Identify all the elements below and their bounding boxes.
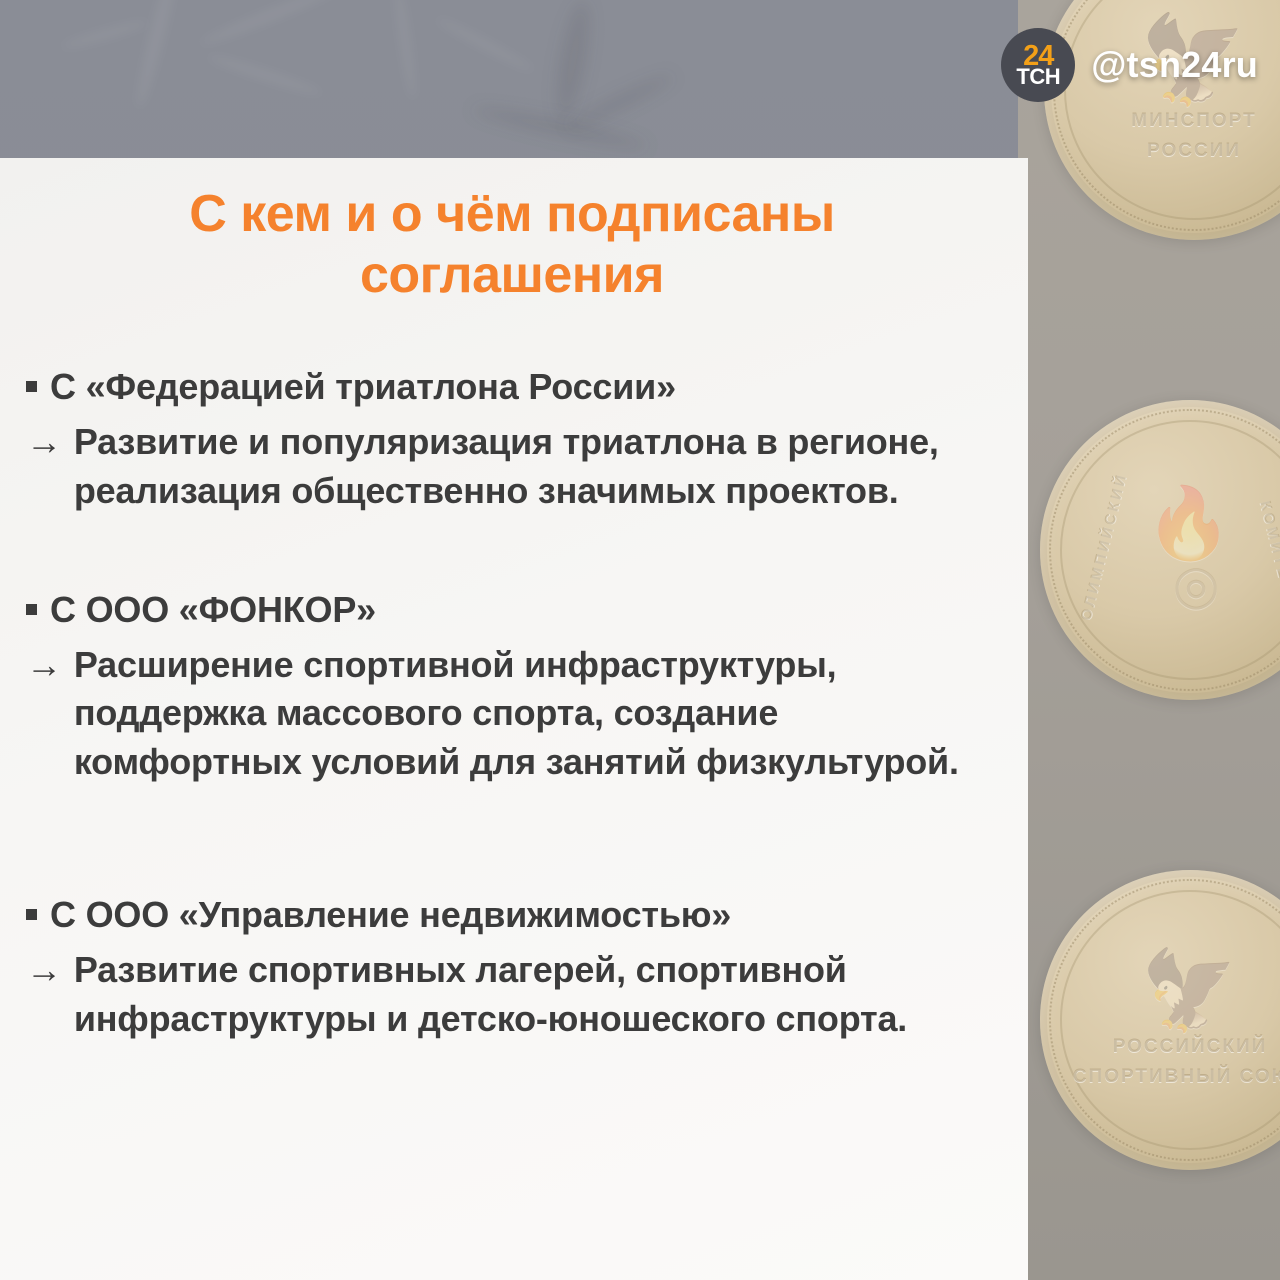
right-arrow-icon: → [26, 641, 62, 690]
right-arrow-icon: → [26, 946, 62, 995]
medal-caption-line-1: МИНСПОРТ [1131, 109, 1256, 133]
medal-rim [1060, 420, 1280, 680]
agreement-description: Развитие и популяризация триатлона в рег… [74, 418, 998, 516]
background-shadow-shape [550, 0, 596, 121]
medal-arc-caption-right: КОМИТЕТ [1231, 399, 1280, 694]
background-branch-shape [132, 0, 182, 109]
olympic-rings-icon: ◎ [1172, 558, 1207, 612]
background-branch-shape [434, 15, 535, 75]
content-card: С кем и о чём подписаны соглашения С «Фе… [0, 158, 1028, 1280]
agreement-description: Развитие спортивных лагерей, спортивной … [74, 946, 998, 1044]
agreement-title: С ООО «ФОНКОР» [50, 586, 376, 635]
page-title: С кем и о чём подписаны соглашения [26, 184, 998, 307]
agreement-title-row: С «Федерацией триатлона России» [26, 363, 998, 412]
logo-text-tsn: ТСН [1016, 66, 1060, 88]
medal-rim [1060, 890, 1280, 1150]
agreement-item: С «Федерацией триатлона России» → Развит… [26, 363, 998, 516]
background-branch-shape [206, 52, 323, 99]
medal-caption-line-1: РОССИЙСКИЙ [1113, 1035, 1268, 1059]
medal-emboss: 🦅 РОССИЙСКИЙ СПОРТИВНЫЙ СОЮЗ [1040, 870, 1280, 1170]
agreement-item: С ООО «Управление недвижимостью» → Разви… [26, 891, 998, 1044]
background-branch-shape [392, 0, 419, 100]
agreement-description-row: → Расширение спортивной инфраструктуры, … [26, 641, 998, 788]
agreement-description-row: → Развитие спортивных лагерей, спортивно… [26, 946, 998, 1044]
agreement-title-row: С ООО «ФОНКОР» [26, 586, 998, 635]
medal-strip: 🦅 МИНСПОРТ РОССИИ 🔥 ◎ ОЛИМПИЙСКИЙ КОМИТЕ… [1018, 0, 1280, 1280]
square-bullet-icon [26, 909, 37, 920]
channel-watermark: 24 ТСН @tsn24ru [1001, 28, 1258, 102]
background-branch-shape [61, 18, 150, 51]
screenshot-root: 🦅 МИНСПОРТ РОССИИ 🔥 ◎ ОЛИМПИЙСКИЙ КОМИТЕ… [0, 0, 1280, 1280]
square-bullet-icon [26, 381, 37, 392]
agreement-description: Расширение спортивной инфраструктуры, по… [74, 641, 998, 788]
flame-icon: 🔥 [1145, 488, 1234, 558]
agreement-title-row: С ООО «Управление недвижимостью» [26, 891, 998, 940]
medal-olympic: 🔥 ◎ ОЛИМПИЙСКИЙ КОМИТЕТ [1040, 400, 1280, 700]
agreement-title: С ООО «Управление недвижимостью» [50, 891, 731, 940]
medal-caption-line-2: РОССИИ [1147, 139, 1241, 163]
medal-sport-union: 🦅 РОССИЙСКИЙ СПОРТИВНЫЙ СОЮЗ [1040, 870, 1280, 1170]
winged-bird-icon: 🦅 [1140, 951, 1239, 1029]
medal-caption-line-2: СПОРТИВНЫЙ СОЮЗ [1073, 1065, 1280, 1089]
agreement-description-row: → Развитие и популяризация триатлона в р… [26, 418, 998, 516]
tsn24-logo-icon: 24 ТСН [1001, 28, 1075, 102]
right-arrow-icon: → [26, 418, 62, 467]
background-branch-shape [198, 0, 341, 49]
channel-handle: @tsn24ru [1091, 44, 1258, 86]
agreement-item: С ООО «ФОНКОР» → Расширение спортивной и… [26, 586, 998, 788]
content-card-inner: С кем и о чём подписаны соглашения С «Фе… [0, 158, 1028, 1280]
agreement-title: С «Федерацией триатлона России» [50, 363, 676, 412]
agreements-list: С «Федерацией триатлона России» → Развит… [26, 363, 998, 1045]
square-bullet-icon [26, 604, 37, 615]
